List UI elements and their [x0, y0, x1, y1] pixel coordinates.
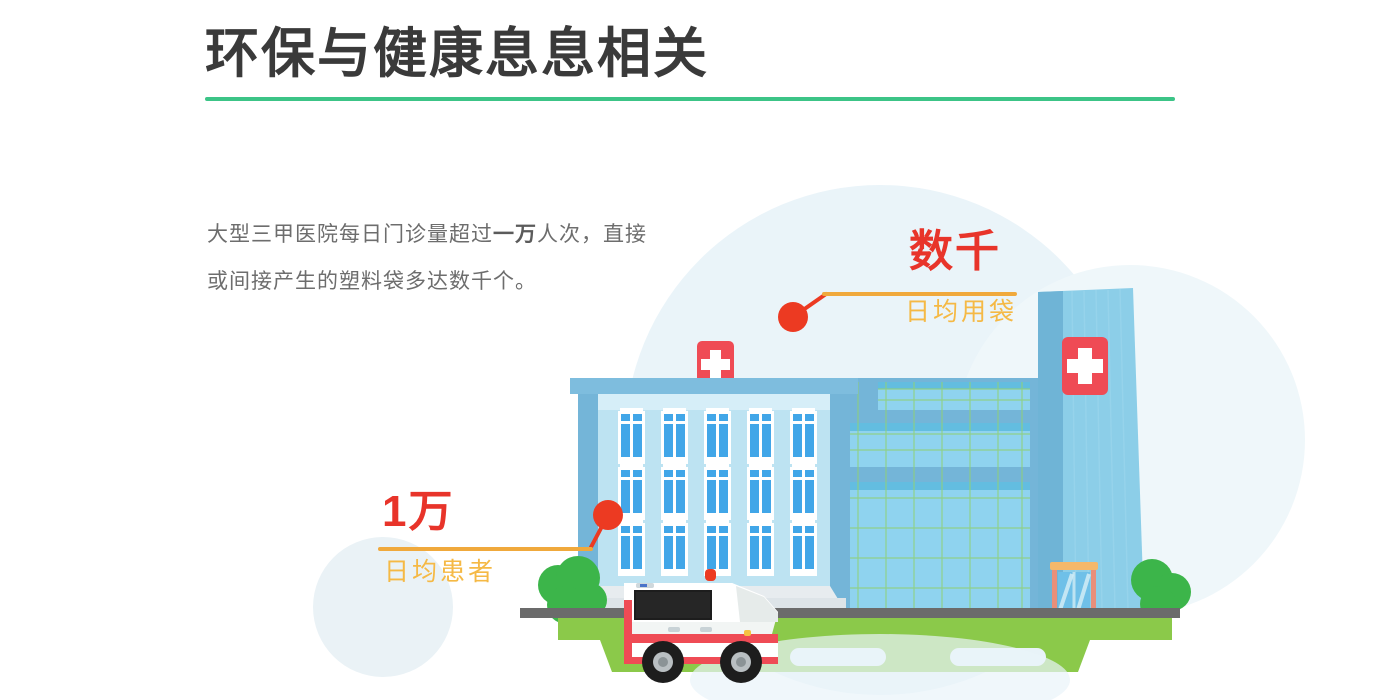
callout-patients-value: 1万	[382, 490, 496, 534]
callout-bags-label: 日均用袋	[905, 292, 1017, 328]
callout-bags-value: 数千	[909, 230, 1017, 274]
red-cross-sign-tower	[1062, 337, 1108, 395]
page-title: 环保与健康息息相关	[205, 26, 1180, 83]
callout-patients: 1万 日均患者	[380, 490, 496, 588]
hospital-tower	[1038, 288, 1144, 612]
glass-curtain-wing	[838, 378, 1038, 610]
body-emphasis: 一万	[493, 223, 537, 246]
callout-patients-label: 日均患者	[384, 552, 496, 588]
title-block: 环保与健康息息相关	[205, 26, 1180, 101]
title-underline-rule	[205, 97, 1175, 101]
callout-bags: 数千 日均用袋	[905, 230, 1017, 328]
hospital-illustration	[0, 0, 1400, 700]
slide-canvas: 环保与健康息息相关 大型三甲医院每日门诊量超过一万人次，直接或间接产生的塑料袋多…	[0, 0, 1400, 700]
body-lead: 大型三甲医院每日门诊量超过	[207, 223, 493, 246]
body-paragraph: 大型三甲医院每日门诊量超过一万人次，直接或间接产生的塑料袋多达数千个。	[207, 211, 647, 305]
connector-dot-patients	[593, 500, 623, 530]
connector-dot-bags	[778, 302, 808, 332]
curb-line	[520, 608, 1180, 618]
